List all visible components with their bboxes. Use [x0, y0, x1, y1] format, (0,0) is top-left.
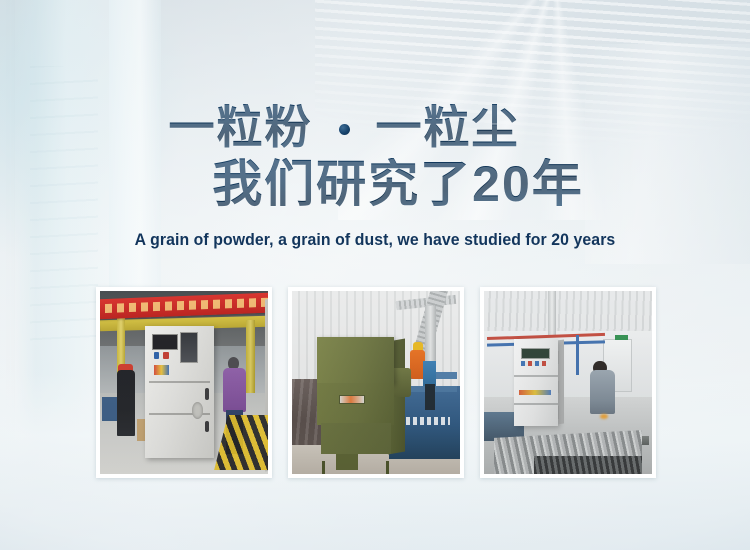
photo-green-dust-collector [292, 291, 460, 474]
photo-frame-3[interactable] [480, 287, 656, 478]
headline-phrase-one: 一粒粉 [169, 104, 313, 152]
headline-subtitle: A grain of powder, a grain of dust, we h… [26, 230, 724, 250]
headline-block: 一粒粉 一粒尘 我们研究了20年 A grain of powder, a gr… [0, 104, 750, 250]
dot-separator-icon [339, 124, 350, 135]
headline-line-1: 一粒粉 一粒尘 [0, 104, 750, 152]
photo-grey-dust-collector [100, 291, 268, 474]
photo-frame-2[interactable] [288, 287, 464, 478]
headline-phrase-two: 一粒尘 [376, 104, 520, 152]
headline-phrase-three: 我们研究了20年 [212, 158, 584, 210]
photo-gallery [96, 287, 656, 478]
hero-banner: 一粒粉 一粒尘 我们研究了20年 A grain of powder, a gr… [0, 0, 750, 550]
headline-line-2: 我们研究了20年 [46, 158, 750, 210]
photo-frame-1[interactable] [96, 287, 272, 478]
photo-white-dust-collector [484, 291, 652, 474]
